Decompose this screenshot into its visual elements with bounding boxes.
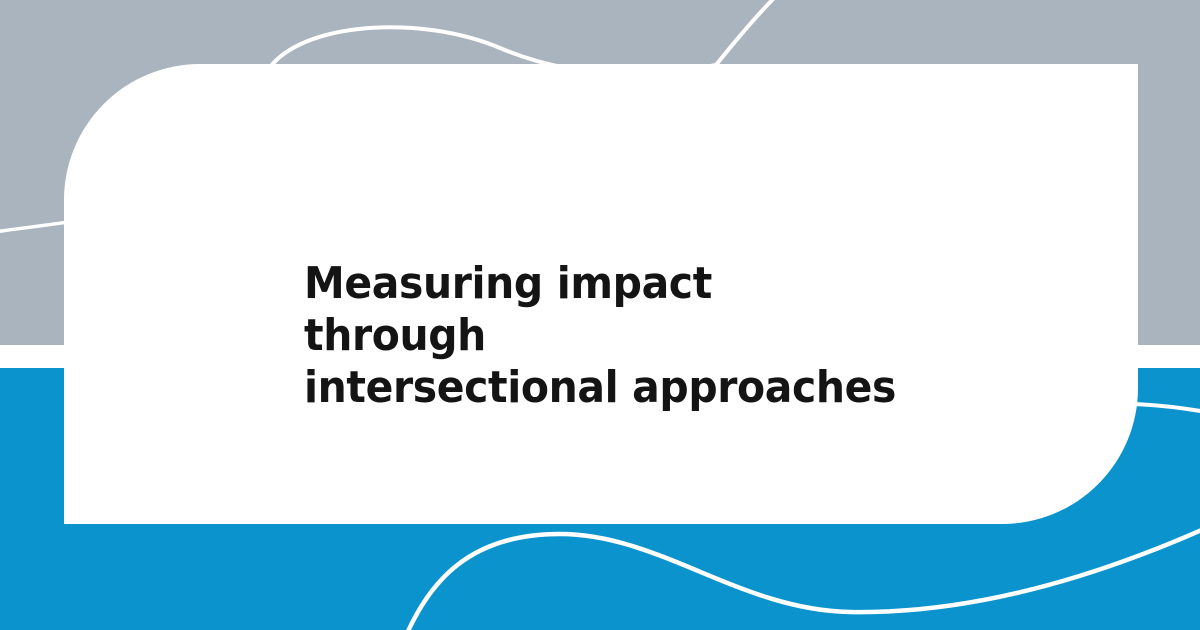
social-card-canvas: Measuring impact through intersectional …	[0, 0, 1200, 630]
title-container: Measuring impact through intersectional …	[304, 258, 944, 414]
page-title: Measuring impact through intersectional …	[304, 258, 899, 414]
